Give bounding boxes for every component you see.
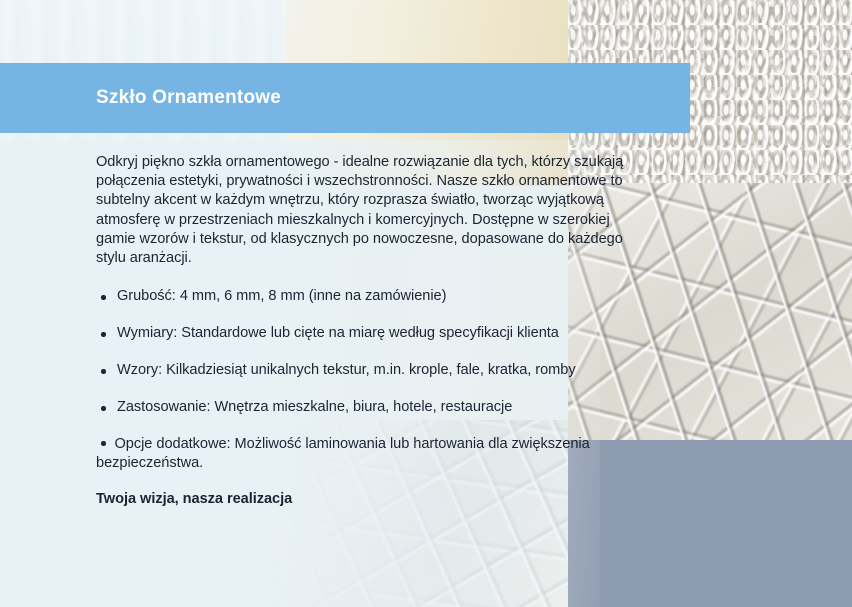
- list-item: Zastosowanie: Wnętrza mieszkalne, biura,…: [96, 398, 641, 417]
- slide-root: Szkło Ornamentowe Odkryj piękno szkła or…: [0, 0, 852, 607]
- list-item: Wymiary: Standardowe lub cięte na miarę …: [96, 324, 641, 343]
- page-title: Szkło Ornamentowe: [96, 87, 281, 109]
- list-item: Opcje dodatkowe: Możliwość laminowania l…: [96, 435, 641, 473]
- list-item: Wzory: Kilkadziesiąt unikalnych tekstur,…: [96, 361, 641, 380]
- bullet-icon: [101, 441, 106, 446]
- closing-tagline: Twoja wizja, nasza realizacja: [96, 491, 641, 507]
- content-body: Odkryj piękno szkła ornamentowego - idea…: [96, 153, 641, 507]
- title-banner: Szkło Ornamentowe: [0, 63, 690, 133]
- list-item: Grubość: 4 mm, 6 mm, 8 mm (inne na zamów…: [96, 287, 641, 306]
- list-item-label: Opcje dodatkowe: Możliwość laminowania l…: [96, 436, 590, 471]
- intro-paragraph: Odkryj piękno szkła ornamentowego - idea…: [96, 153, 641, 268]
- feature-list: Grubość: 4 mm, 6 mm, 8 mm (inne na zamów…: [96, 287, 641, 473]
